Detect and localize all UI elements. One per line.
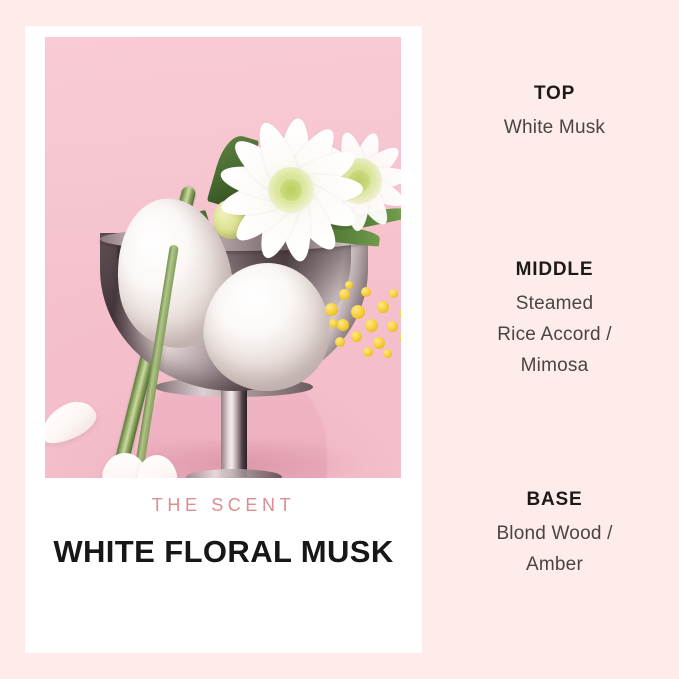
mimosa-floret bbox=[335, 337, 345, 347]
note-line: Blond Wood / bbox=[496, 523, 612, 544]
flower-stamen bbox=[280, 179, 302, 201]
mimosa-floret bbox=[351, 305, 365, 319]
note-line: Rice Accord / bbox=[497, 324, 612, 345]
fallen-petal bbox=[45, 395, 101, 450]
note-body-base: Blond Wood / Amber bbox=[430, 518, 679, 580]
scent-eyebrow: THE SCENT bbox=[25, 496, 422, 514]
mimosa-floret bbox=[345, 281, 353, 289]
note-title-top: TOP bbox=[430, 84, 679, 103]
note-line: Mimosa bbox=[521, 355, 589, 376]
mimosa-floret bbox=[373, 337, 385, 349]
note-line: Steamed bbox=[516, 293, 593, 314]
scent-notes-column: TOP White Musk MIDDLE Steamed Rice Accor… bbox=[430, 0, 679, 679]
note-body-middle: Steamed Rice Accord / Mimosa bbox=[430, 288, 679, 381]
mimosa-floret bbox=[365, 319, 378, 332]
mimosa-floret bbox=[329, 319, 338, 328]
mimosa-floret bbox=[351, 331, 362, 342]
bowl-stem bbox=[221, 385, 247, 477]
mimosa-cluster-icon bbox=[321, 275, 401, 371]
photo-background bbox=[45, 37, 401, 478]
flower-icon bbox=[207, 115, 375, 265]
note-block-middle: MIDDLE Steamed Rice Accord / Mimosa bbox=[430, 260, 679, 381]
mimosa-floret bbox=[337, 319, 349, 331]
mimosa-floret bbox=[377, 301, 389, 313]
note-block-base: BASE Blond Wood / Amber bbox=[430, 490, 679, 580]
mimosa-floret bbox=[399, 333, 401, 341]
note-line: White Musk bbox=[504, 117, 605, 138]
mimosa-floret bbox=[387, 321, 398, 332]
card-caption: THE SCENT WHITE FLORAL MUSK bbox=[25, 496, 422, 567]
scent-detail-page: THE SCENT WHITE FLORAL MUSK TOP White Mu… bbox=[0, 0, 679, 679]
note-block-top: TOP White Musk bbox=[430, 84, 679, 143]
mimosa-floret bbox=[383, 349, 392, 358]
note-title-middle: MIDDLE bbox=[430, 260, 679, 279]
mimosa-floret bbox=[339, 289, 350, 300]
note-line: Amber bbox=[526, 554, 583, 575]
bowl-base bbox=[186, 469, 282, 478]
mimosa-floret bbox=[389, 289, 398, 298]
product-photo bbox=[45, 37, 401, 478]
mimosa-floret bbox=[363, 347, 373, 357]
mimosa-floret bbox=[325, 303, 338, 316]
scent-title: WHITE FLORAL MUSK bbox=[25, 536, 422, 567]
note-body-top: White Musk bbox=[430, 112, 679, 143]
note-title-base: BASE bbox=[430, 490, 679, 509]
mimosa-floret bbox=[399, 309, 401, 318]
product-card: THE SCENT WHITE FLORAL MUSK bbox=[25, 26, 422, 653]
mimosa-floret bbox=[361, 287, 371, 297]
